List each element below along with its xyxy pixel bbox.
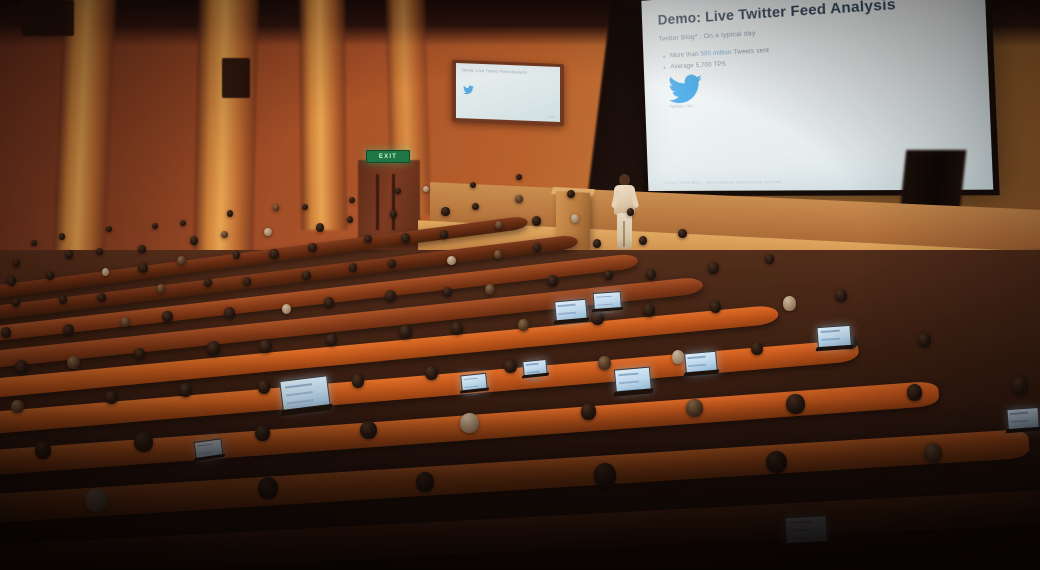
audience-member-head xyxy=(470,182,476,188)
audience-member-head xyxy=(518,319,529,331)
presenter-figure xyxy=(612,174,638,250)
audience-member-head xyxy=(224,307,235,319)
audience-member-head xyxy=(59,295,68,304)
wall-column xyxy=(193,0,259,260)
audience-member-head xyxy=(221,231,228,238)
audience-member-head xyxy=(710,301,721,313)
audience-member-head xyxy=(678,229,687,238)
slide-bullet-list: More than 500 million Tweets sent Averag… xyxy=(661,46,770,73)
audience-member-head xyxy=(102,268,110,276)
audience-member-head xyxy=(316,223,324,232)
audience-member-head xyxy=(243,277,252,286)
audience-member-head xyxy=(302,204,308,210)
audience-member-head xyxy=(227,210,233,216)
audience-member-head xyxy=(783,296,796,311)
audience-member-head xyxy=(401,233,410,243)
audience-member-head xyxy=(918,333,931,347)
slide-title: Demo: Live Twitter Feed Analysis xyxy=(657,0,896,28)
audience-member-head xyxy=(593,239,602,248)
door-seam xyxy=(376,174,379,230)
audience-member-head xyxy=(627,208,635,216)
audience-member-head xyxy=(485,284,495,295)
audience-member-head xyxy=(349,197,355,203)
audience-member-head xyxy=(162,311,172,322)
audience-member-head xyxy=(515,195,523,203)
audience-member-head xyxy=(672,350,685,364)
audience-member-head xyxy=(97,293,106,302)
audience-member-head xyxy=(264,228,272,236)
door-seam xyxy=(392,174,395,230)
slide-subtitle: Twitter Blog* : On a typical day xyxy=(658,30,755,43)
audience-member-head xyxy=(63,324,74,336)
audience-member-head xyxy=(207,341,220,356)
secondary-screen-surface: Demo: Live Twitter Feed Analysis slide xyxy=(456,63,560,122)
audience-member-head xyxy=(425,366,438,380)
audience-member-head xyxy=(1012,376,1029,394)
audience-member-head xyxy=(423,186,429,192)
audience-member-head xyxy=(907,384,922,401)
audience-member-head xyxy=(547,275,558,287)
audience-member-head xyxy=(591,311,604,326)
audience-member-head xyxy=(96,248,103,255)
audience-member-head xyxy=(504,360,517,374)
twitter-bird-icon xyxy=(463,85,474,94)
audience-member-head xyxy=(324,297,334,308)
auditorium-photo: Demo: Live Twitter Feed Analysis slide E… xyxy=(0,0,1040,570)
audience-member-head xyxy=(59,233,65,239)
bullet-suffix: Tweets sent xyxy=(732,48,770,56)
audience-member-head xyxy=(532,216,541,226)
audience-member-head xyxy=(495,221,503,229)
wall-panel xyxy=(22,0,74,36)
audience-member-head xyxy=(349,263,358,272)
presenter-legs xyxy=(617,213,632,249)
exit-sign: EXIT xyxy=(366,150,410,163)
bullet-prefix: More than xyxy=(670,52,701,60)
audience-member-head xyxy=(12,298,21,307)
audience-member-head xyxy=(180,220,186,226)
wall-column xyxy=(299,0,348,230)
audience-member-head xyxy=(326,334,337,346)
audience-member-head xyxy=(258,380,271,394)
audience-member-head xyxy=(604,270,613,280)
audience-member-head xyxy=(395,188,401,194)
audience-member-head xyxy=(399,325,412,340)
audience-member-head xyxy=(31,240,37,246)
exit-sign-label: EXIT xyxy=(379,154,397,160)
audience-member-head xyxy=(494,250,503,259)
audience-member-head xyxy=(138,263,147,273)
audience-member-head xyxy=(65,250,73,259)
audience-member-head xyxy=(121,317,130,327)
audience-member-head xyxy=(447,256,456,265)
audience-member-head xyxy=(67,356,79,369)
bullet-prefix: Average 5,700 TPS xyxy=(670,61,726,70)
audience-member-head xyxy=(364,235,372,243)
bullet-highlight: 500 million xyxy=(700,50,731,58)
audience-member-head xyxy=(269,249,278,259)
audience-member-head xyxy=(441,207,449,216)
audience-member-head xyxy=(352,374,365,388)
secondary-slide-footer: slide xyxy=(549,115,555,119)
audience-member-head xyxy=(273,204,279,210)
audience-member-head xyxy=(259,340,271,353)
audience-member-head xyxy=(204,278,213,287)
audience-member-head xyxy=(646,269,656,280)
slide-logo-caption: Twitter, Inc. xyxy=(669,103,695,109)
audience-member-head xyxy=(598,356,611,370)
secondary-projection-screen: Demo: Live Twitter Feed Analysis slide xyxy=(452,60,564,126)
audience-member-head xyxy=(134,348,145,360)
secondary-slide-title: Demo: Live Twitter Feed Analysis xyxy=(462,67,527,75)
audience-member-head xyxy=(15,360,28,375)
audience-member-head xyxy=(308,243,317,252)
twitter-bird-icon xyxy=(668,74,703,104)
audience-member-head xyxy=(152,223,158,229)
audience-member-head xyxy=(516,174,522,180)
audience-member-head xyxy=(302,271,311,280)
foreground-shadow xyxy=(0,400,1040,570)
audience-member-head xyxy=(179,383,192,397)
audience-member-head xyxy=(13,259,21,267)
audience-member-head xyxy=(177,256,186,265)
wall-panel xyxy=(222,58,250,98)
audience-member-head xyxy=(106,226,112,232)
audience-member-head xyxy=(440,230,449,239)
audience-member-head xyxy=(472,203,479,210)
audience-member-head xyxy=(138,245,146,253)
audience-member-head xyxy=(157,284,166,293)
audience-member-head xyxy=(282,304,291,314)
